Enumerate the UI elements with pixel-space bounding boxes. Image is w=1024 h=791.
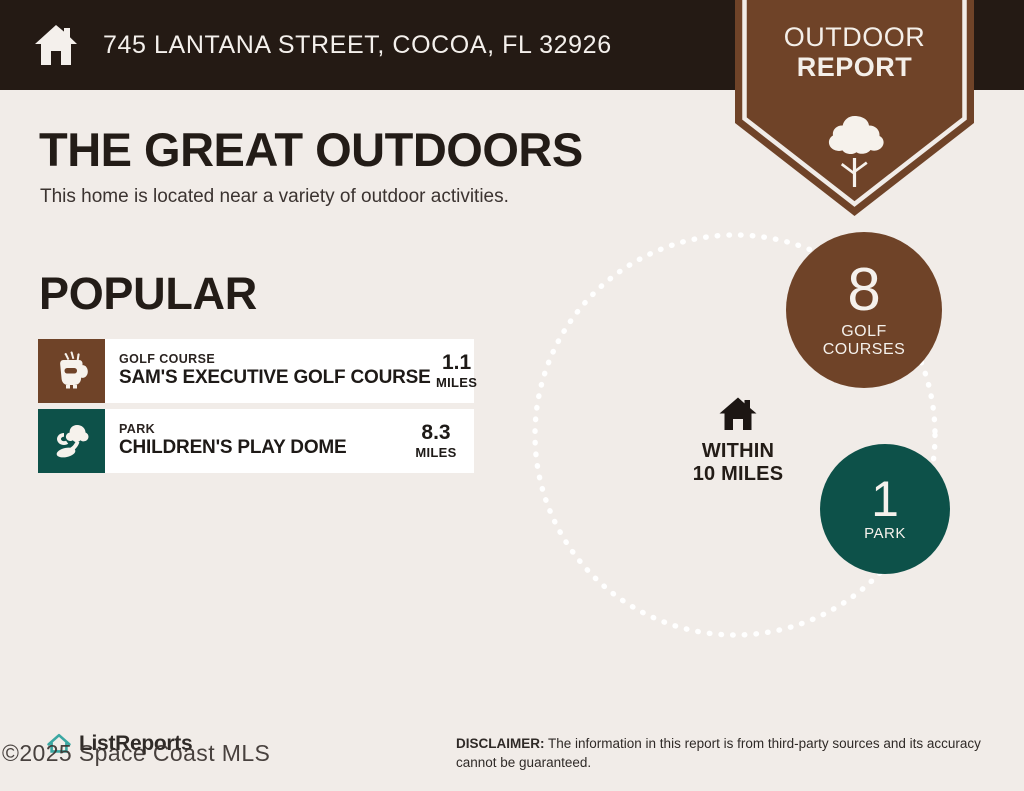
list-item-name: SAM'S EXECUTIVE GOLF COURSE bbox=[119, 367, 431, 390]
list-item-icon-box bbox=[38, 339, 105, 403]
golf-bag-icon bbox=[53, 351, 91, 391]
list-item-category: GOLF COURSE bbox=[119, 352, 431, 368]
stat-value: 8 bbox=[847, 262, 880, 317]
diagram-center-text: WITHIN 10 MILES bbox=[678, 440, 798, 486]
stat-label-line-1: GOLF bbox=[841, 323, 887, 340]
stat-label-line-1: PARK bbox=[864, 525, 906, 542]
park-tree-icon bbox=[52, 423, 92, 459]
center-line-2: 10 MILES bbox=[678, 463, 798, 486]
list-item[interactable]: GOLF COURSE SAM'S EXECUTIVE GOLF COURSE … bbox=[38, 339, 474, 403]
list-item-text: PARK CHILDREN'S PLAY DOME bbox=[119, 422, 347, 460]
distance-unit: MILES bbox=[431, 375, 483, 390]
stat-label-line-2: COURSES bbox=[823, 341, 906, 358]
distance-unit: MILES bbox=[410, 445, 462, 460]
page-subtitle: This home is located near a variety of o… bbox=[40, 186, 509, 208]
disclaimer: DISCLAIMER: The information in this repo… bbox=[456, 735, 988, 772]
outdoor-report-badge: OUTDOOR REPORT bbox=[735, 0, 974, 216]
badge-shape bbox=[735, 0, 974, 216]
popular-list: GOLF COURSE SAM'S EXECUTIVE GOLF COURSE … bbox=[38, 339, 474, 479]
within-radius-diagram: 8 GOLF COURSES 1 PARK WITHIN 10 MILES bbox=[530, 228, 1000, 648]
stat-label: PARK bbox=[864, 526, 906, 543]
mls-watermark: ©2025 Space Coast MLS bbox=[2, 740, 270, 767]
list-item-text: GOLF COURSE SAM'S EXECUTIVE GOLF COURSE bbox=[119, 352, 431, 390]
list-item-icon-box bbox=[38, 409, 105, 473]
section-heading-popular: POPULAR bbox=[39, 268, 257, 320]
page-title: THE GREAT OUTDOORS bbox=[39, 122, 583, 177]
disclaimer-label: DISCLAIMER: bbox=[456, 736, 545, 751]
center-line-1: WITHIN bbox=[702, 440, 774, 462]
distance-value: 8.3 bbox=[410, 422, 462, 444]
list-item-body: PARK CHILDREN'S PLAY DOME 8.3 MILES bbox=[105, 409, 474, 473]
outdoor-report-page: 745 LANTANA STREET, COCOA, FL 32926 OUTD… bbox=[0, 0, 1024, 791]
list-item-body: GOLF COURSE SAM'S EXECUTIVE GOLF COURSE … bbox=[105, 339, 495, 403]
home-icon bbox=[33, 23, 79, 67]
distance-value: 1.1 bbox=[431, 352, 483, 374]
list-item-distance: 8.3 MILES bbox=[410, 422, 462, 459]
stat-circle-parks[interactable]: 1 PARK bbox=[820, 444, 950, 574]
list-item-category: PARK bbox=[119, 422, 347, 438]
home-icon bbox=[718, 396, 758, 432]
list-item[interactable]: PARK CHILDREN'S PLAY DOME 8.3 MILES bbox=[38, 409, 474, 473]
list-item-name: CHILDREN'S PLAY DOME bbox=[119, 437, 347, 460]
stat-label: GOLF COURSES bbox=[823, 323, 906, 359]
list-item-distance: 1.1 MILES bbox=[431, 352, 483, 389]
stat-circle-golf-courses[interactable]: 8 GOLF COURSES bbox=[786, 232, 942, 388]
property-address: 745 LANTANA STREET, COCOA, FL 32926 bbox=[103, 31, 612, 60]
stat-value: 1 bbox=[871, 476, 899, 522]
diagram-center: WITHIN 10 MILES bbox=[678, 396, 798, 486]
